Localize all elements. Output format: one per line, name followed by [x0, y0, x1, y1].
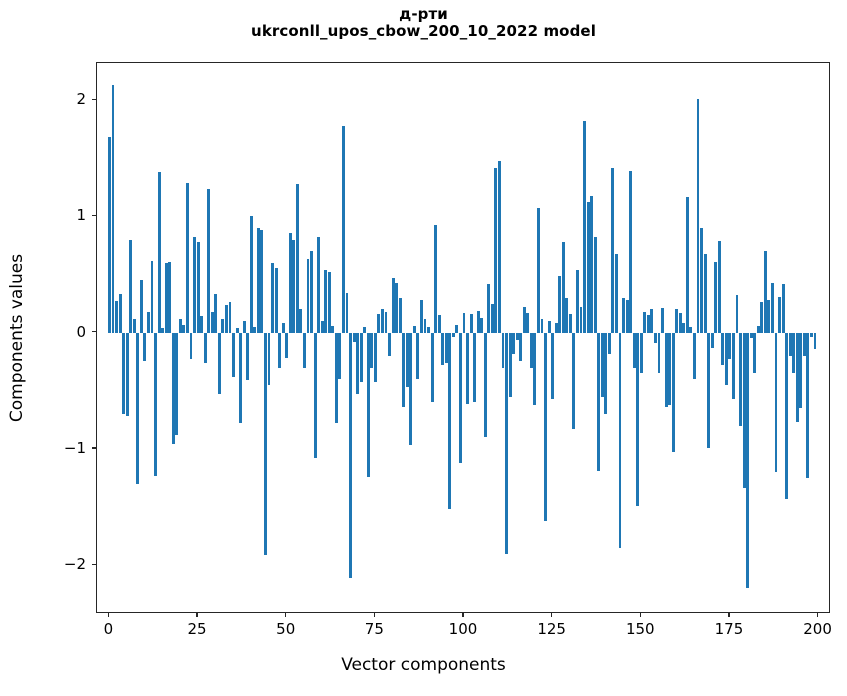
y-tick-mark — [92, 447, 96, 448]
bar — [565, 298, 568, 333]
bar — [119, 294, 122, 332]
bar — [668, 333, 671, 405]
bar — [562, 242, 565, 333]
bar — [675, 309, 678, 332]
bar — [377, 314, 380, 333]
bar — [151, 261, 154, 333]
x-tick-label: 50 — [276, 620, 295, 638]
bar — [207, 189, 210, 333]
bar — [767, 300, 770, 333]
bar — [466, 333, 469, 404]
bar — [431, 333, 434, 403]
bar — [427, 327, 430, 333]
bar — [619, 333, 622, 548]
bar — [211, 312, 214, 333]
bar — [438, 315, 441, 332]
x-tick-mark — [196, 613, 197, 617]
bar — [154, 333, 157, 476]
bar — [711, 333, 714, 348]
bar — [204, 333, 207, 363]
bar — [682, 323, 685, 332]
bar — [470, 314, 473, 333]
bar — [250, 216, 253, 332]
bar — [572, 333, 575, 429]
figure-canvas: д-рти ukrconll_upos_cbow_200_10_2022 mod… — [0, 0, 847, 696]
bar — [310, 251, 313, 332]
bar — [275, 268, 278, 333]
bar — [193, 237, 196, 332]
bar — [544, 333, 547, 521]
bar — [714, 262, 717, 333]
bar — [172, 333, 175, 445]
bar — [253, 327, 256, 333]
bar — [789, 333, 792, 356]
bar — [292, 240, 295, 333]
bar — [360, 333, 363, 382]
bar — [757, 326, 760, 333]
bar — [416, 333, 419, 379]
bar — [622, 298, 625, 333]
bar — [661, 308, 664, 332]
bar — [218, 333, 221, 395]
bar — [143, 333, 146, 361]
bar — [122, 333, 125, 414]
bar — [331, 326, 334, 333]
bar — [725, 333, 728, 385]
bar — [718, 241, 721, 333]
x-tick-label: 150 — [626, 620, 655, 638]
x-tick-mark — [462, 613, 463, 617]
bar — [785, 333, 788, 499]
bar — [601, 333, 604, 397]
bar — [782, 284, 785, 333]
bar — [271, 263, 274, 333]
bar — [555, 323, 558, 332]
x-tick-label: 100 — [449, 620, 478, 638]
bar — [679, 313, 682, 333]
bar — [399, 298, 402, 333]
bar — [303, 333, 306, 368]
x-tick-mark — [817, 613, 818, 617]
bar — [541, 319, 544, 333]
bar — [353, 333, 356, 342]
bar — [530, 333, 533, 368]
bar — [650, 309, 653, 332]
bar — [392, 278, 395, 333]
x-tick-mark — [728, 613, 729, 617]
bar — [480, 318, 483, 333]
bar — [810, 333, 813, 338]
bar — [406, 333, 409, 388]
bar — [455, 325, 458, 333]
bar — [736, 295, 739, 332]
bar — [214, 294, 217, 332]
y-tick-label: 1 — [0, 206, 86, 224]
bar — [140, 280, 143, 332]
chart-title-line-2: ukrconll_upos_cbow_200_10_2022 model — [0, 23, 847, 40]
bar — [760, 302, 763, 332]
bar — [594, 237, 597, 332]
bar — [537, 208, 540, 332]
bar — [509, 333, 512, 397]
bar — [728, 333, 731, 360]
bar — [753, 333, 756, 374]
x-tick-label: 200 — [803, 620, 832, 638]
bar — [750, 333, 753, 339]
bar — [236, 328, 239, 333]
x-tick-label: 175 — [715, 620, 744, 638]
bar — [615, 254, 618, 333]
bar — [633, 333, 636, 368]
bar — [147, 312, 150, 333]
bar — [246, 333, 249, 381]
y-tick-mark — [92, 564, 96, 565]
bar — [764, 251, 767, 332]
bar — [665, 333, 668, 407]
bar — [519, 333, 522, 361]
y-tick-mark — [92, 331, 96, 332]
bar — [580, 307, 583, 333]
bar — [126, 333, 129, 417]
bar — [232, 333, 235, 377]
bar — [803, 333, 806, 356]
bar — [654, 333, 657, 343]
bar — [346, 293, 349, 333]
bar — [200, 316, 203, 332]
bar — [115, 301, 118, 332]
x-tick-mark — [108, 613, 109, 617]
bar — [448, 333, 451, 510]
bar — [314, 333, 317, 459]
bar — [168, 262, 171, 333]
bar — [775, 333, 778, 472]
bar — [746, 333, 749, 589]
bar — [693, 333, 696, 379]
bar — [498, 161, 501, 333]
bar — [197, 242, 200, 333]
bar — [792, 333, 795, 374]
bar — [182, 325, 185, 333]
plot-axes — [96, 62, 830, 613]
bar — [604, 333, 607, 414]
bar — [533, 333, 536, 405]
x-tick-label: 25 — [188, 620, 207, 638]
bar — [587, 202, 590, 332]
bar — [445, 333, 448, 363]
bar — [771, 283, 774, 333]
bar — [165, 263, 168, 333]
bar — [526, 313, 529, 333]
bar — [700, 228, 703, 333]
bar — [523, 307, 526, 333]
bar — [413, 326, 416, 333]
bar — [161, 328, 164, 333]
bar — [179, 319, 182, 333]
bar — [558, 276, 561, 333]
x-tick-mark — [285, 613, 286, 617]
bar — [129, 240, 132, 333]
bar — [257, 228, 260, 333]
bar — [260, 230, 263, 332]
bar — [576, 270, 579, 333]
bar — [502, 333, 505, 368]
chart-title-line-1: д-рти — [0, 6, 847, 23]
bar — [349, 333, 352, 578]
bar — [647, 315, 650, 332]
bar — [424, 319, 427, 333]
bar — [608, 333, 611, 354]
bar — [672, 333, 675, 453]
x-tick-mark — [374, 613, 375, 617]
y-tick-mark — [92, 215, 96, 216]
bar — [799, 333, 802, 409]
bar — [484, 333, 487, 438]
bar — [611, 168, 614, 333]
bar — [626, 300, 629, 333]
bar — [806, 333, 809, 478]
bar — [285, 333, 288, 359]
bar — [629, 171, 632, 333]
bar — [505, 333, 508, 554]
bar — [385, 312, 388, 333]
bar — [512, 333, 515, 354]
chart-title: д-рти ukrconll_upos_cbow_200_10_2022 mod… — [0, 6, 847, 41]
bar — [459, 333, 462, 463]
bar — [732, 333, 735, 399]
bar — [133, 319, 136, 333]
bar — [289, 233, 292, 333]
bar — [221, 319, 224, 333]
bar — [686, 197, 689, 333]
bar — [463, 313, 466, 333]
bar — [658, 333, 661, 374]
bar — [590, 196, 593, 333]
bar — [190, 333, 193, 360]
bar — [516, 333, 519, 340]
bar — [374, 333, 377, 382]
bar — [743, 333, 746, 489]
bar — [278, 333, 281, 368]
x-tick-label: 125 — [537, 620, 566, 638]
bar — [282, 323, 285, 332]
bar — [704, 254, 707, 333]
x-tick-label: 75 — [365, 620, 384, 638]
bar — [551, 333, 554, 399]
bar — [324, 270, 327, 333]
bar — [317, 237, 320, 332]
bar — [395, 283, 398, 333]
bar — [441, 333, 444, 366]
bar — [778, 297, 781, 333]
bar — [814, 333, 817, 349]
y-tick-label: 0 — [0, 323, 86, 341]
bar — [420, 300, 423, 333]
bar — [367, 333, 370, 477]
bar — [363, 327, 366, 333]
bar — [721, 333, 724, 366]
bar — [158, 172, 161, 332]
bar — [239, 333, 242, 424]
bar — [796, 333, 799, 423]
bar — [569, 314, 572, 333]
y-tick-label: 2 — [0, 90, 86, 108]
bar — [487, 284, 490, 333]
bar — [136, 333, 139, 484]
bar — [229, 302, 232, 332]
bar — [583, 121, 586, 333]
x-axis-label: Vector components — [0, 655, 847, 675]
bar — [381, 309, 384, 332]
bar — [636, 333, 639, 506]
bar — [370, 333, 373, 368]
bar — [338, 333, 341, 379]
bar — [186, 183, 189, 333]
bar — [640, 333, 643, 374]
bar — [175, 333, 178, 435]
bar — [473, 333, 476, 403]
bar — [597, 333, 600, 471]
bar — [356, 333, 359, 395]
bar — [689, 327, 692, 333]
bar — [491, 304, 494, 333]
bar — [108, 137, 111, 332]
bar — [296, 184, 299, 333]
bar — [452, 333, 455, 338]
bar — [225, 305, 228, 333]
bar — [697, 99, 700, 333]
x-tick-label: 0 — [104, 620, 114, 638]
bar — [328, 272, 331, 332]
bar — [264, 333, 267, 555]
x-tick-mark — [640, 613, 641, 617]
bar — [477, 311, 480, 333]
bar — [321, 321, 324, 333]
bar — [388, 333, 391, 356]
y-tick-mark — [92, 99, 96, 100]
bar — [299, 309, 302, 332]
bar — [548, 321, 551, 333]
bar — [342, 126, 345, 333]
x-tick-mark — [551, 613, 552, 617]
y-tick-label: −2 — [0, 555, 86, 573]
bar — [402, 333, 405, 407]
plot-surface — [97, 63, 829, 612]
bar — [707, 333, 710, 448]
bar — [112, 85, 115, 333]
bar — [243, 321, 246, 333]
bar — [307, 259, 310, 332]
bar — [739, 333, 742, 426]
y-tick-label: −1 — [0, 439, 86, 457]
bar — [494, 168, 497, 333]
bar — [643, 312, 646, 333]
bar — [409, 333, 412, 446]
bar — [268, 333, 271, 385]
bar — [335, 333, 338, 424]
bar — [434, 225, 437, 333]
